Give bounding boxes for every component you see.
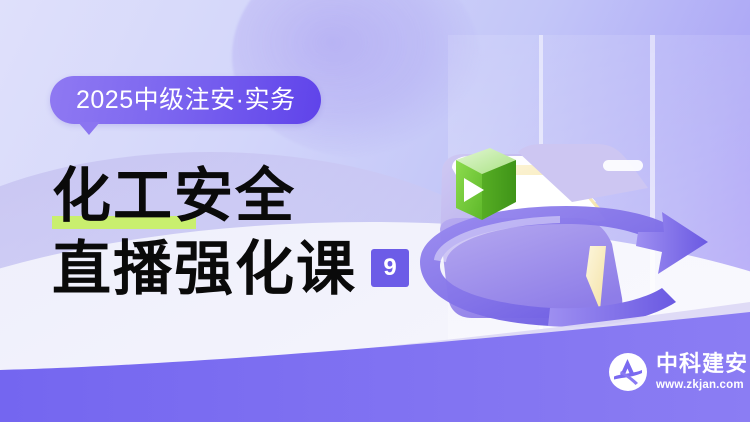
course-badge-label: 2025中级注安·实务 xyxy=(76,88,295,113)
brand-logo: 中科建安 www.zkjan.com xyxy=(608,352,748,392)
folder-tab-slot xyxy=(603,160,643,171)
brand-logo-texts: 中科建安 www.zkjan.com xyxy=(656,353,748,392)
course-badge-pill: 2025中级注安·实务 xyxy=(50,76,321,124)
headline: 化工安全 直播强化课 9 xyxy=(52,160,409,302)
headline-line-1-row: 化工安全 xyxy=(52,160,409,230)
headline-line-2: 直播强化课 xyxy=(52,239,357,298)
course-badge-tail xyxy=(78,122,100,135)
headline-line-1: 化工安全 xyxy=(52,166,296,225)
mountain-emblem-icon xyxy=(608,352,648,392)
course-badge: 2025中级注安·实务 xyxy=(50,76,321,124)
headline-line-2-row: 直播强化课 9 xyxy=(52,234,409,302)
brand-url: www.zkjan.com xyxy=(656,380,748,392)
brand-name: 中科建安 xyxy=(656,353,748,375)
episode-number: 9 xyxy=(383,256,396,280)
course-poster: 2025中级注安·实务 化工安全 直播强化课 9 中科建安 www.zkjan.… xyxy=(0,0,750,422)
episode-badge: 9 xyxy=(371,249,409,287)
